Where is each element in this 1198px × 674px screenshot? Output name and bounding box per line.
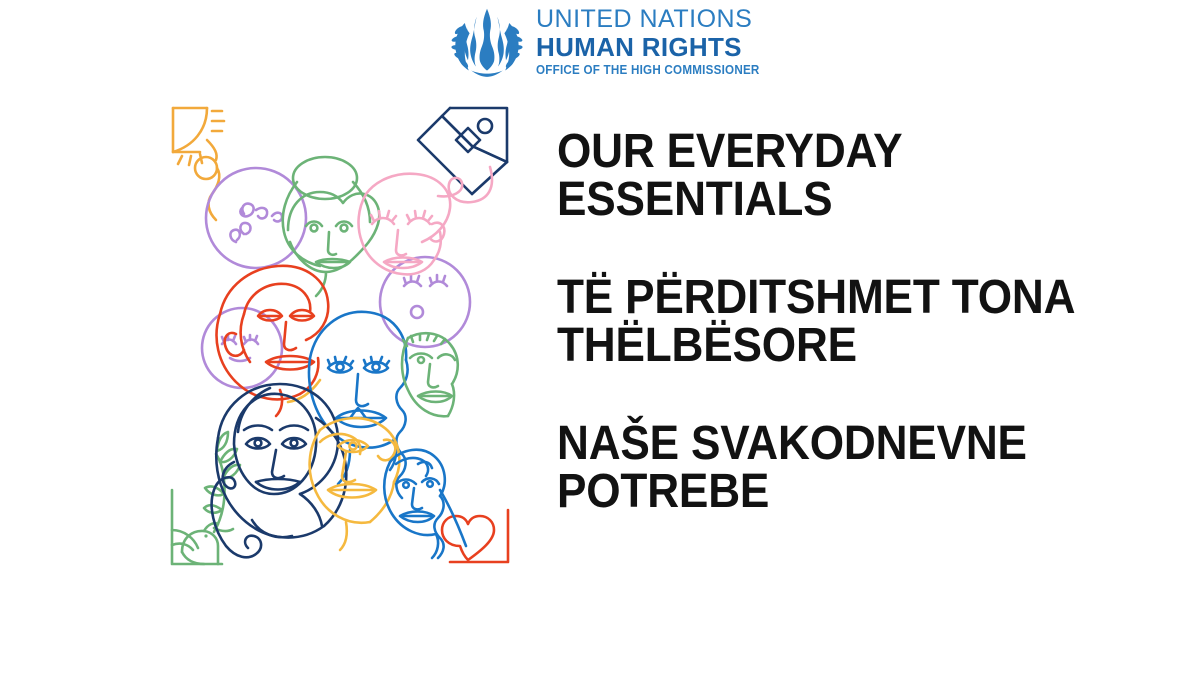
purple-bubble-top [206,168,306,268]
logo-line-united-nations: UNITED NATIONS [536,7,776,33]
sun-lamp-icon [173,108,224,220]
headline-albanian: TË PËRDITSHMET TONA THËLBËSORE [557,274,1109,370]
dove-olive-branch-icon [172,432,240,564]
poster-canvas: UNITED NATIONS HUMAN RIGHTS OFFICE OF TH… [0,0,1198,674]
illustration-svg [160,90,520,580]
green-face-top [283,157,379,296]
logo-line-office-high-commissioner: OFFICE OF THE HIGH COMMISSIONER [536,64,760,78]
headline-english: OUR EVERYDAY ESSENTIALS [557,128,1109,224]
blue-face-centre [309,312,408,498]
headline-serbian: NAŠE SVAKODNEVNE POTREBE [557,420,1109,516]
faces-collage-illustration [160,90,520,580]
logo-text-block: UNITED NATIONS HUMAN RIGHTS OFFICE OF TH… [536,4,776,78]
logo-line-human-rights: HUMAN RIGHTS [536,34,776,61]
un-human-rights-emblem [447,4,527,80]
heart-icon [442,510,508,562]
headline-stack: OUR EVERYDAY ESSENTIALS TË PËRDITSHMET T… [557,128,1157,516]
un-human-rights-logo: UNITED NATIONS HUMAN RIGHTS OFFICE OF TH… [447,4,776,80]
yellow-face [310,418,400,550]
